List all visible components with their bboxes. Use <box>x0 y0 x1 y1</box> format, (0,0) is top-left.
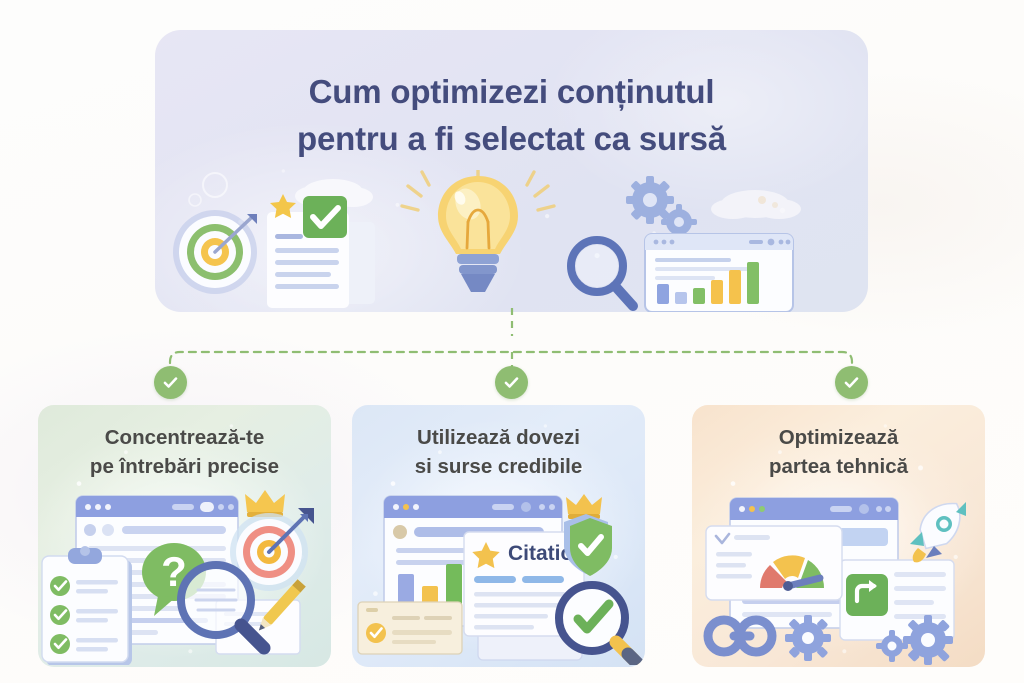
step-badge-check-1 <box>154 366 187 399</box>
card-concentreaza-te[interactable]: Concentrează-te pe întrebări precise <box>38 405 331 667</box>
card-title-line-1: Concentrează-te <box>50 423 319 452</box>
step-badge-check-3 <box>835 366 868 399</box>
card-optimizeaza-partea-tehnica[interactable]: Optimizează partea tehnică </> <box>692 405 985 667</box>
card-title: Utilizează dovezi si surse credibile <box>352 423 645 481</box>
page-title-line-2: pentru a fi selectat ca sursă <box>185 115 838 162</box>
card-3-illustration: </> <box>692 490 985 665</box>
card-title: Optimizează partea tehnică <box>692 423 985 481</box>
target-icon <box>173 210 257 294</box>
check-icon <box>842 373 861 392</box>
decorative-circle <box>203 173 227 197</box>
hero-banner: Cum optimizezi conținutul pentru a fi se… <box>155 30 868 312</box>
cloud-icon <box>711 190 801 219</box>
document-checkmark-icon <box>267 194 375 308</box>
page-title-line-1: Cum optimizezi conținutul <box>185 68 838 115</box>
certificate-icon <box>358 602 462 654</box>
card-title-line-1: Utilizează dovezi <box>364 423 633 452</box>
magnifier-icon <box>571 240 633 306</box>
clipboard-checklist-icon <box>42 546 132 665</box>
chain-link-icon <box>708 620 772 652</box>
card-title-line-2: partea tehnică <box>704 452 973 481</box>
check-icon <box>502 373 521 392</box>
gear-icon <box>626 176 674 224</box>
card-title: Concentrează-te pe întrebări precise <box>38 423 331 481</box>
card-title-line-2: pe întrebări precise <box>50 452 319 481</box>
redirect-icon <box>846 574 888 616</box>
gear-icon <box>785 615 831 661</box>
lightbulb-icon <box>402 170 554 292</box>
step-badge-check-2 <box>495 366 528 399</box>
browser-bar-chart-icon <box>645 234 793 312</box>
card-title-line-1: Optimizează <box>704 423 973 452</box>
decorative-circle <box>189 194 201 206</box>
page-title: Cum optimizezi conținutul pentru a fi se… <box>155 68 868 162</box>
rocket-icon <box>910 493 968 562</box>
speedometer-gauge-icon <box>706 526 842 600</box>
hero-illustration <box>155 170 868 312</box>
check-icon <box>161 373 180 392</box>
gear-icon <box>903 615 953 665</box>
crown-icon <box>245 490 285 517</box>
card-1-illustration: ? <box>38 490 331 665</box>
card-2-illustration: Citation <box>352 490 645 665</box>
card-utilizeaza-dovezi[interactable]: Utilizează dovezi si surse credibile <box>352 405 645 667</box>
card-title-line-2: si surse credibile <box>364 452 633 481</box>
